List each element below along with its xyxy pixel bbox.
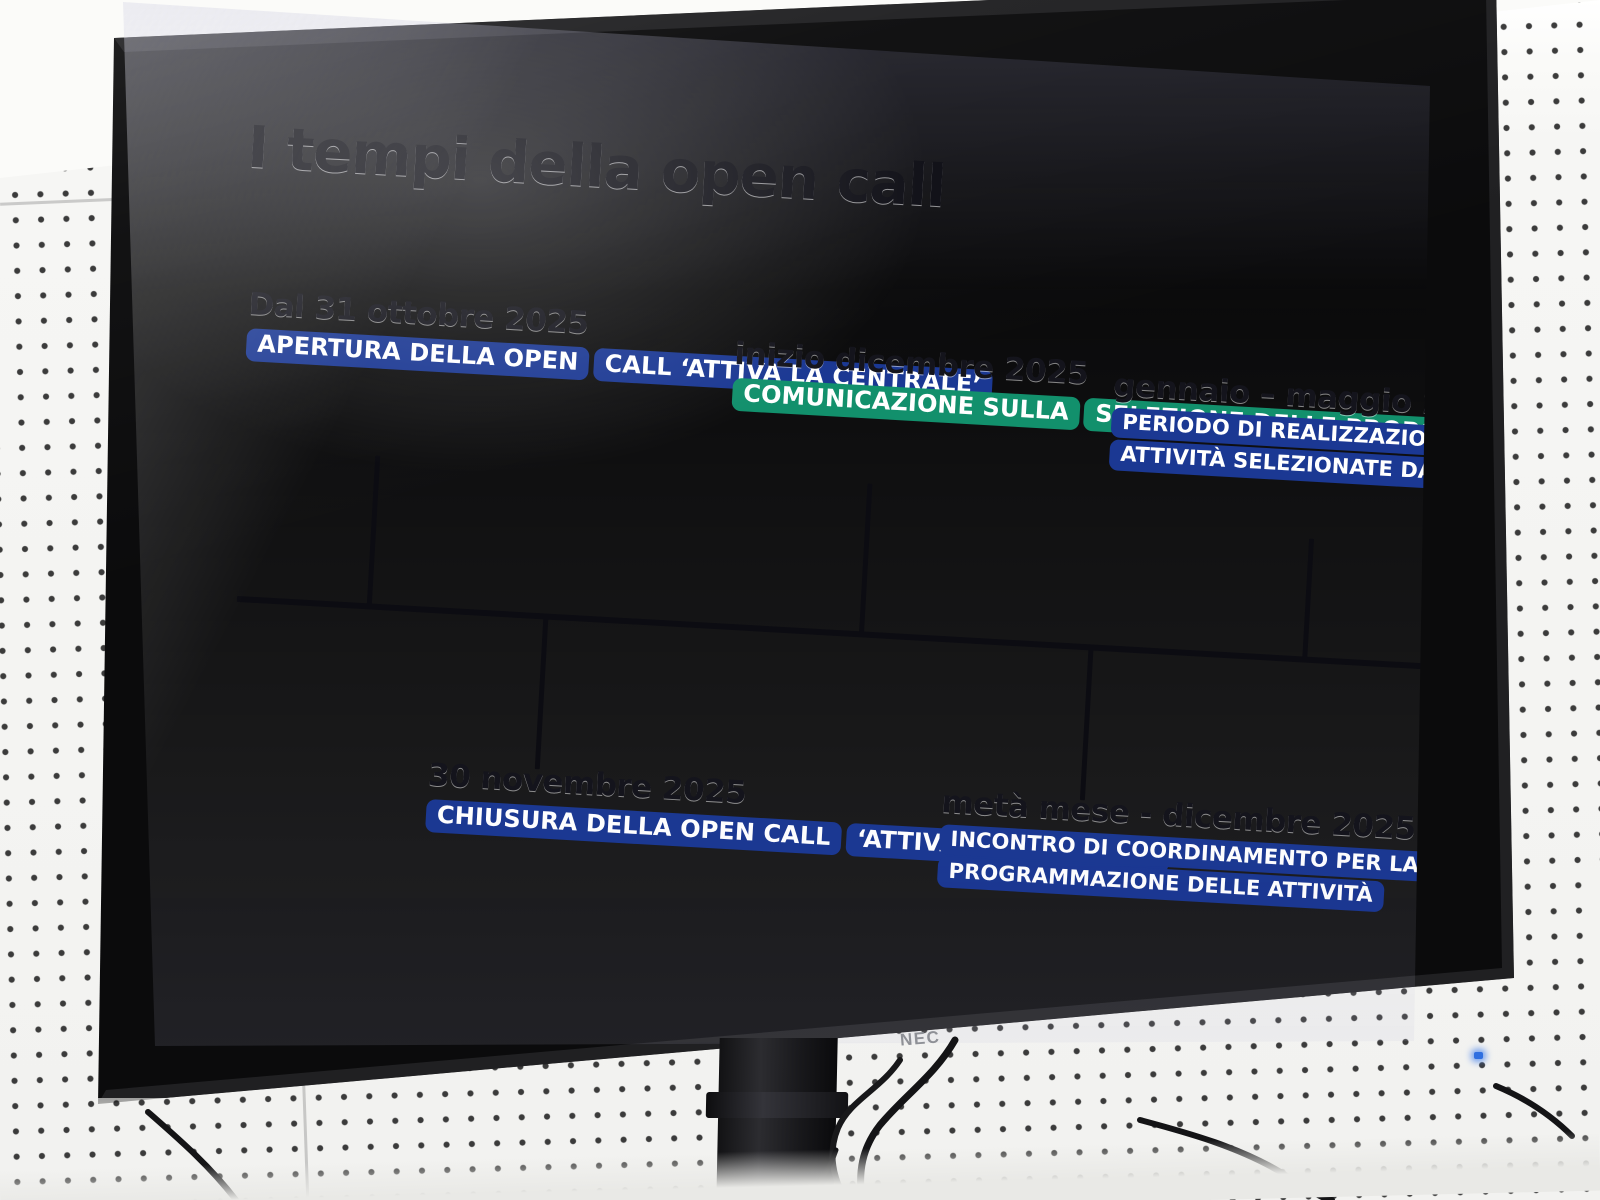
room-scene: I tempi della open call Dal 31 ottobre 2…: [0, 0, 1600, 1200]
monitor-screen: I tempi della open call Dal 31 ottobre 2…: [36, 0, 1516, 1098]
screen-tint: [36, 0, 1516, 1098]
monitor-stand-collar: [706, 1092, 849, 1118]
brand-logo: NEC: [899, 1027, 941, 1050]
power-led-icon: [1474, 1052, 1483, 1059]
